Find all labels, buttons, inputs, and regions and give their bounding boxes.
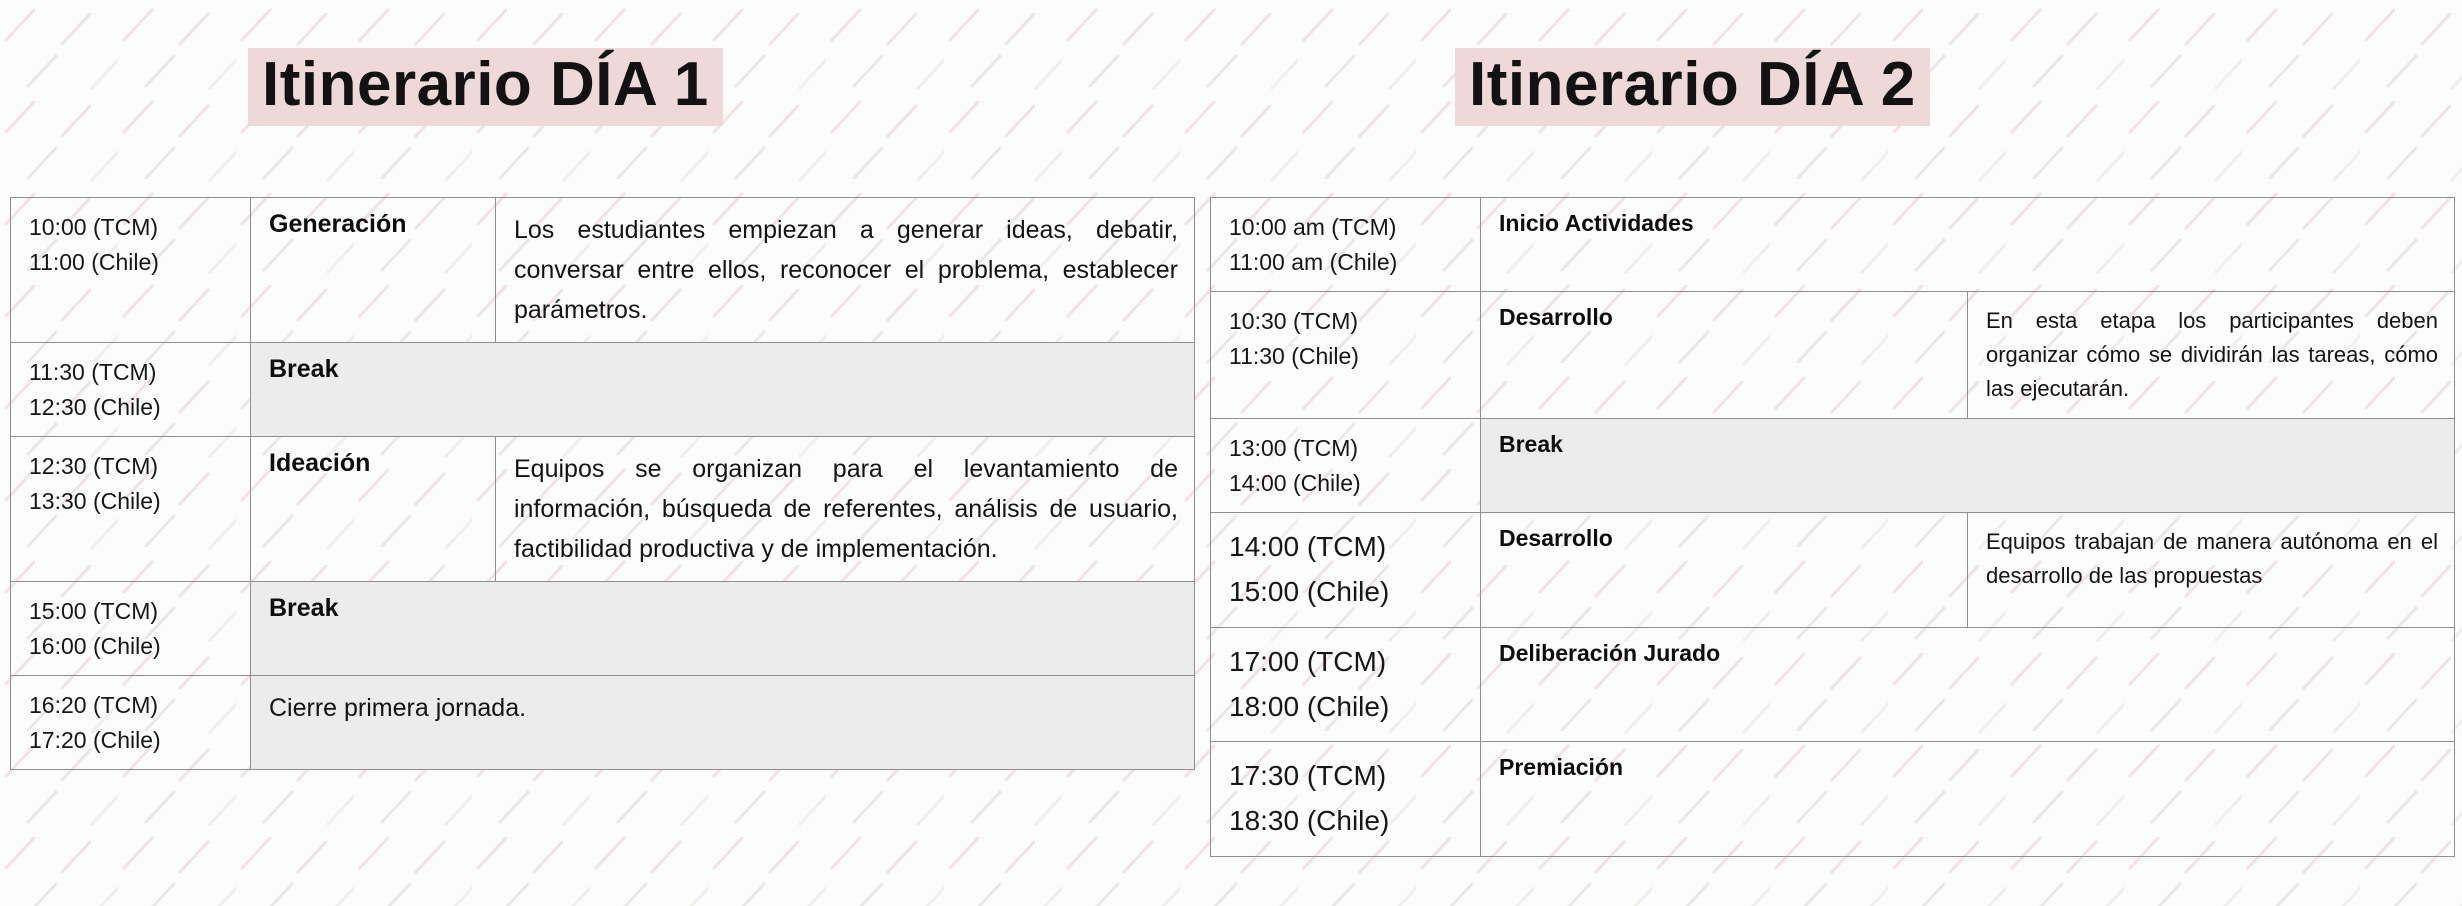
cell-activity-label: Premiación — [1481, 742, 2455, 857]
cell-time: 10:00 am (TCM) 11:00 am (Chile) — [1211, 198, 1481, 292]
time-chile: 17:20 (Chile) — [29, 723, 234, 758]
time-tcm: 13:00 (TCM) — [1229, 431, 1464, 466]
time-tcm: 10:00 (TCM) — [29, 210, 234, 245]
time-chile: 16:00 (Chile) — [29, 629, 234, 664]
cell-description: Los estudiantes empiezan a generar ideas… — [496, 198, 1195, 343]
time-chile: 13:30 (Chile) — [29, 484, 234, 519]
cell-description: Equipos trabajan de manera autónoma en e… — [1968, 513, 2455, 628]
time-tcm: 16:20 (TCM) — [29, 688, 234, 723]
table-row: 16:20 (TCM) 17:20 (Chile) Cierre primera… — [11, 676, 1195, 770]
cell-time: 17:30 (TCM) 18:30 (Chile) — [1211, 742, 1481, 857]
time-tcm: 17:00 (TCM) — [1229, 640, 1464, 685]
table-row: 17:00 (TCM) 18:00 (Chile) Deliberación J… — [1211, 627, 2455, 742]
table-row: 10:00 am (TCM) 11:00 am (Chile) Inicio A… — [1211, 198, 2455, 292]
cell-break-label: Break — [251, 343, 1195, 437]
table-row: 11:30 (TCM) 12:30 (Chile) Break — [11, 343, 1195, 437]
page-title-day2: Itinerario DÍA 2 — [1455, 48, 1930, 126]
time-chile: 11:30 (Chile) — [1229, 339, 1464, 374]
cell-time: 10:30 (TCM) 11:30 (Chile) — [1211, 292, 1481, 419]
cell-time: 12:30 (TCM) 13:30 (Chile) — [11, 437, 251, 582]
table-row: 15:00 (TCM) 16:00 (Chile) Break — [11, 582, 1195, 676]
cell-time: 11:30 (TCM) 12:30 (Chile) — [11, 343, 251, 437]
itinerary-page: Itinerario DÍA 1 10:00 (TCM) 11:00 (Chil… — [0, 0, 2462, 906]
cell-time: 13:00 (TCM) 14:00 (Chile) — [1211, 419, 1481, 513]
cell-time: 16:20 (TCM) 17:20 (Chile) — [11, 676, 251, 770]
time-tcm: 11:30 (TCM) — [29, 355, 234, 390]
time-chile: 12:30 (Chile) — [29, 390, 234, 425]
table-row: 17:30 (TCM) 18:30 (Chile) Premiación — [1211, 742, 2455, 857]
table-row: 12:30 (TCM) 13:30 (Chile) Ideación Equip… — [11, 437, 1195, 582]
table-row: 10:00 (TCM) 11:00 (Chile) Generación Los… — [11, 198, 1195, 343]
cell-activity-label: Deliberación Jurado — [1481, 627, 2455, 742]
time-tcm: 14:00 (TCM) — [1229, 525, 1464, 570]
itinerary-table-day1: 10:00 (TCM) 11:00 (Chile) Generación Los… — [10, 197, 1195, 770]
itinerary-table-day2: 10:00 am (TCM) 11:00 am (Chile) Inicio A… — [1210, 197, 2455, 857]
cell-time: 15:00 (TCM) 16:00 (Chile) — [11, 582, 251, 676]
time-tcm: 10:30 (TCM) — [1229, 304, 1464, 339]
cell-description: Equipos se organizan para el levantamien… — [496, 437, 1195, 582]
time-chile: 11:00 (Chile) — [29, 245, 234, 280]
table-row: 14:00 (TCM) 15:00 (Chile) Desarrollo Equ… — [1211, 513, 2455, 628]
cell-activity-label: Inicio Actividades — [1481, 198, 2455, 292]
cell-activity-label: Generación — [251, 198, 496, 343]
page-title-day1: Itinerario DÍA 1 — [248, 48, 723, 126]
time-tcm: 10:00 am (TCM) — [1229, 210, 1464, 245]
table-row: 10:30 (TCM) 11:30 (Chile) Desarrollo En … — [1211, 292, 2455, 419]
cell-time: 17:00 (TCM) 18:00 (Chile) — [1211, 627, 1481, 742]
cell-break-label: Break — [251, 582, 1195, 676]
cell-break-label: Break — [1481, 419, 2455, 513]
cell-activity-label: Ideación — [251, 437, 496, 582]
cell-time: 10:00 (TCM) 11:00 (Chile) — [11, 198, 251, 343]
cell-closing-note: Cierre primera jornada. — [251, 676, 1195, 770]
time-chile: 14:00 (Chile) — [1229, 466, 1464, 501]
time-tcm: 17:30 (TCM) — [1229, 754, 1464, 799]
table-row: 13:00 (TCM) 14:00 (Chile) Break — [1211, 419, 2455, 513]
cell-time: 14:00 (TCM) 15:00 (Chile) — [1211, 513, 1481, 628]
time-chile: 15:00 (Chile) — [1229, 570, 1464, 615]
time-chile: 18:00 (Chile) — [1229, 685, 1464, 730]
time-chile: 18:30 (Chile) — [1229, 799, 1464, 844]
cell-activity-label: Desarrollo — [1481, 513, 1968, 628]
cell-activity-label: Desarrollo — [1481, 292, 1968, 419]
time-tcm: 12:30 (TCM) — [29, 449, 234, 484]
cell-description: En esta etapa los participantes deben or… — [1968, 292, 2455, 419]
time-chile: 11:00 am (Chile) — [1229, 245, 1464, 280]
time-tcm: 15:00 (TCM) — [29, 594, 234, 629]
